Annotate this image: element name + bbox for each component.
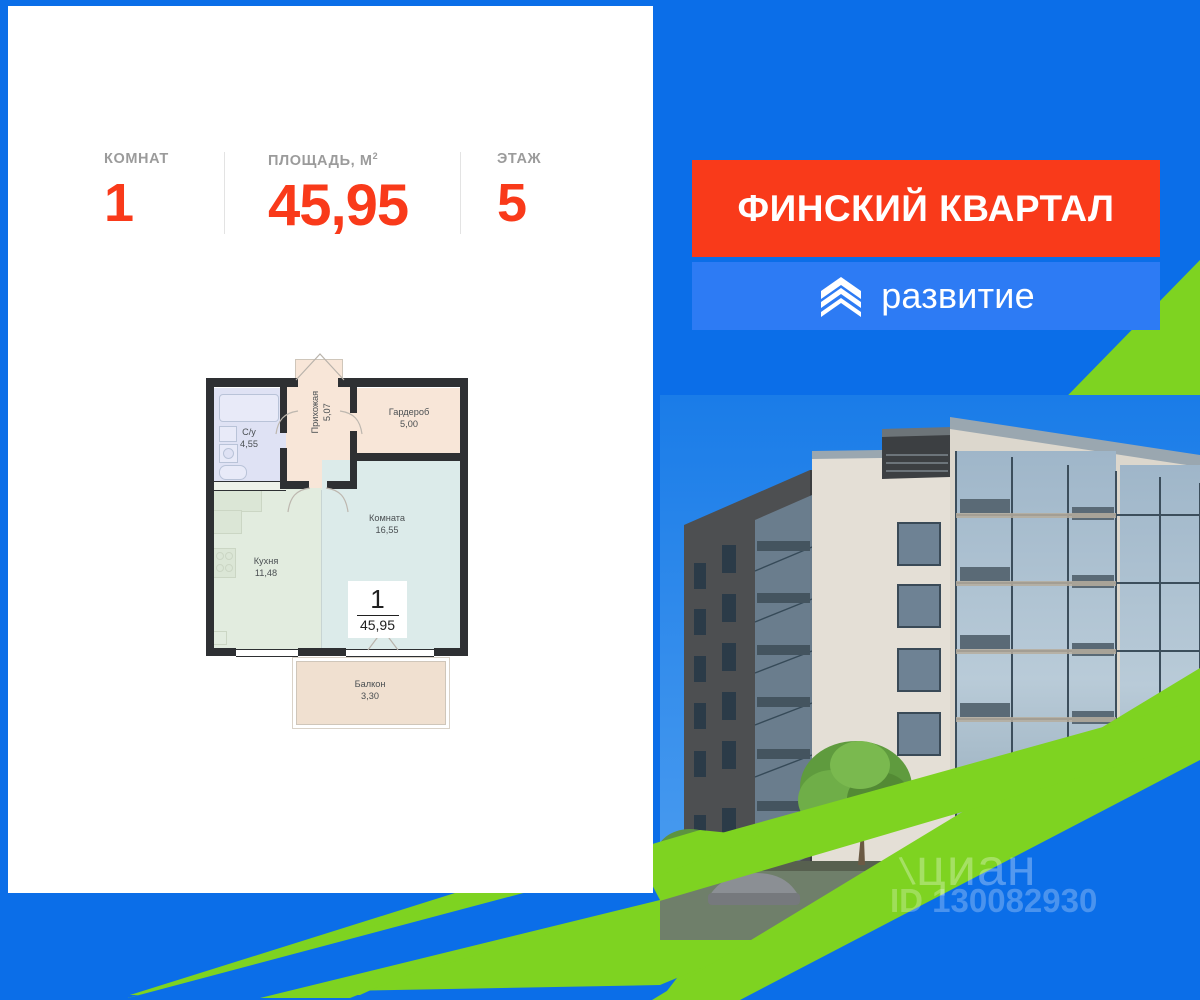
wall-top-right [338,378,468,387]
square-meter-superscript: 2 [373,151,379,161]
wall-bottom-mid [298,648,346,656]
poster-canvas: КОМНАТ 1 ПЛОЩАДЬ, М2 45,95 ЭТАЖ 5 [0,0,1200,1000]
stat-rooms-caption: КОМНАТ [104,152,169,167]
label-balcony: Балкон 3,30 [300,678,440,702]
wall-bottom-right [434,648,468,656]
complex-name: ФИНСКИЙ КВАРТАЛ [738,188,1115,230]
stat-floor-caption: ЭТАЖ [497,152,541,167]
stat-floor-value: 5 [497,176,541,230]
door-living-icon [324,486,352,514]
stat-rooms-value: 1 [104,176,169,230]
radiator-icon [213,631,227,645]
apartment-area-badge: 1 45,95 [348,581,407,638]
floor-plan: С/у 4,55 Прихожая 5,07 Гардероб 5,00 Кух… [194,368,494,758]
wall-bottom-left [206,648,236,656]
kitchen-living-partition [321,490,322,653]
wall-bathroom-bottom [206,481,214,489]
bathroom-bottom-partition [214,481,286,491]
door-kitchen-icon [284,486,312,514]
kitchen-counter-top-icon [212,488,262,512]
apartment-stats: КОМНАТ 1 ПЛОЩАДЬ, М2 45,95 ЭТАЖ 5 [8,138,653,248]
label-living: Комната 16,55 [332,512,442,536]
stat-area-caption: ПЛОЩАДЬ, М2 [268,152,408,168]
complex-logo-banner: ФИНСКИЙ КВАРТАЛ [692,160,1160,257]
label-wardrobe: Гардероб 5,00 [359,406,459,430]
chevron-stack-icon [817,274,865,318]
floorplan-card: КОМНАТ 1 ПЛОЩАДЬ, М2 45,95 ЭТАЖ 5 [8,6,653,893]
bathtub-icon [219,394,279,422]
wall-wardrobe-bottom [350,453,468,461]
stat-area: ПЛОЩАДЬ, М2 45,95 [268,152,408,235]
stat-floor: ЭТАЖ 5 [497,152,541,230]
stat-area-value: 45,95 [268,177,408,235]
developer-logo-banner: развитие [692,262,1160,330]
wall-top-left [206,378,298,387]
developer-name: развитие [881,275,1035,317]
label-kitchen: Кухня 11,48 [216,555,316,579]
stat-rooms: КОМНАТ 1 [104,152,169,230]
toilet-icon [219,465,247,480]
badge-rule [357,615,399,616]
window-kitchen [236,649,298,657]
window-living-right [396,649,434,657]
kitchen-upper-cabinet-icon [212,510,242,534]
label-hallway: Прихожая 5,07 [309,377,333,447]
wall-left [206,378,214,656]
label-bathroom: С/у 4,55 [216,426,282,450]
badge-area: 45,95 [360,618,395,633]
wall-right [460,378,468,656]
badge-rooms: 1 [370,586,384,612]
wall-bathroom-right-lower [280,448,287,484]
